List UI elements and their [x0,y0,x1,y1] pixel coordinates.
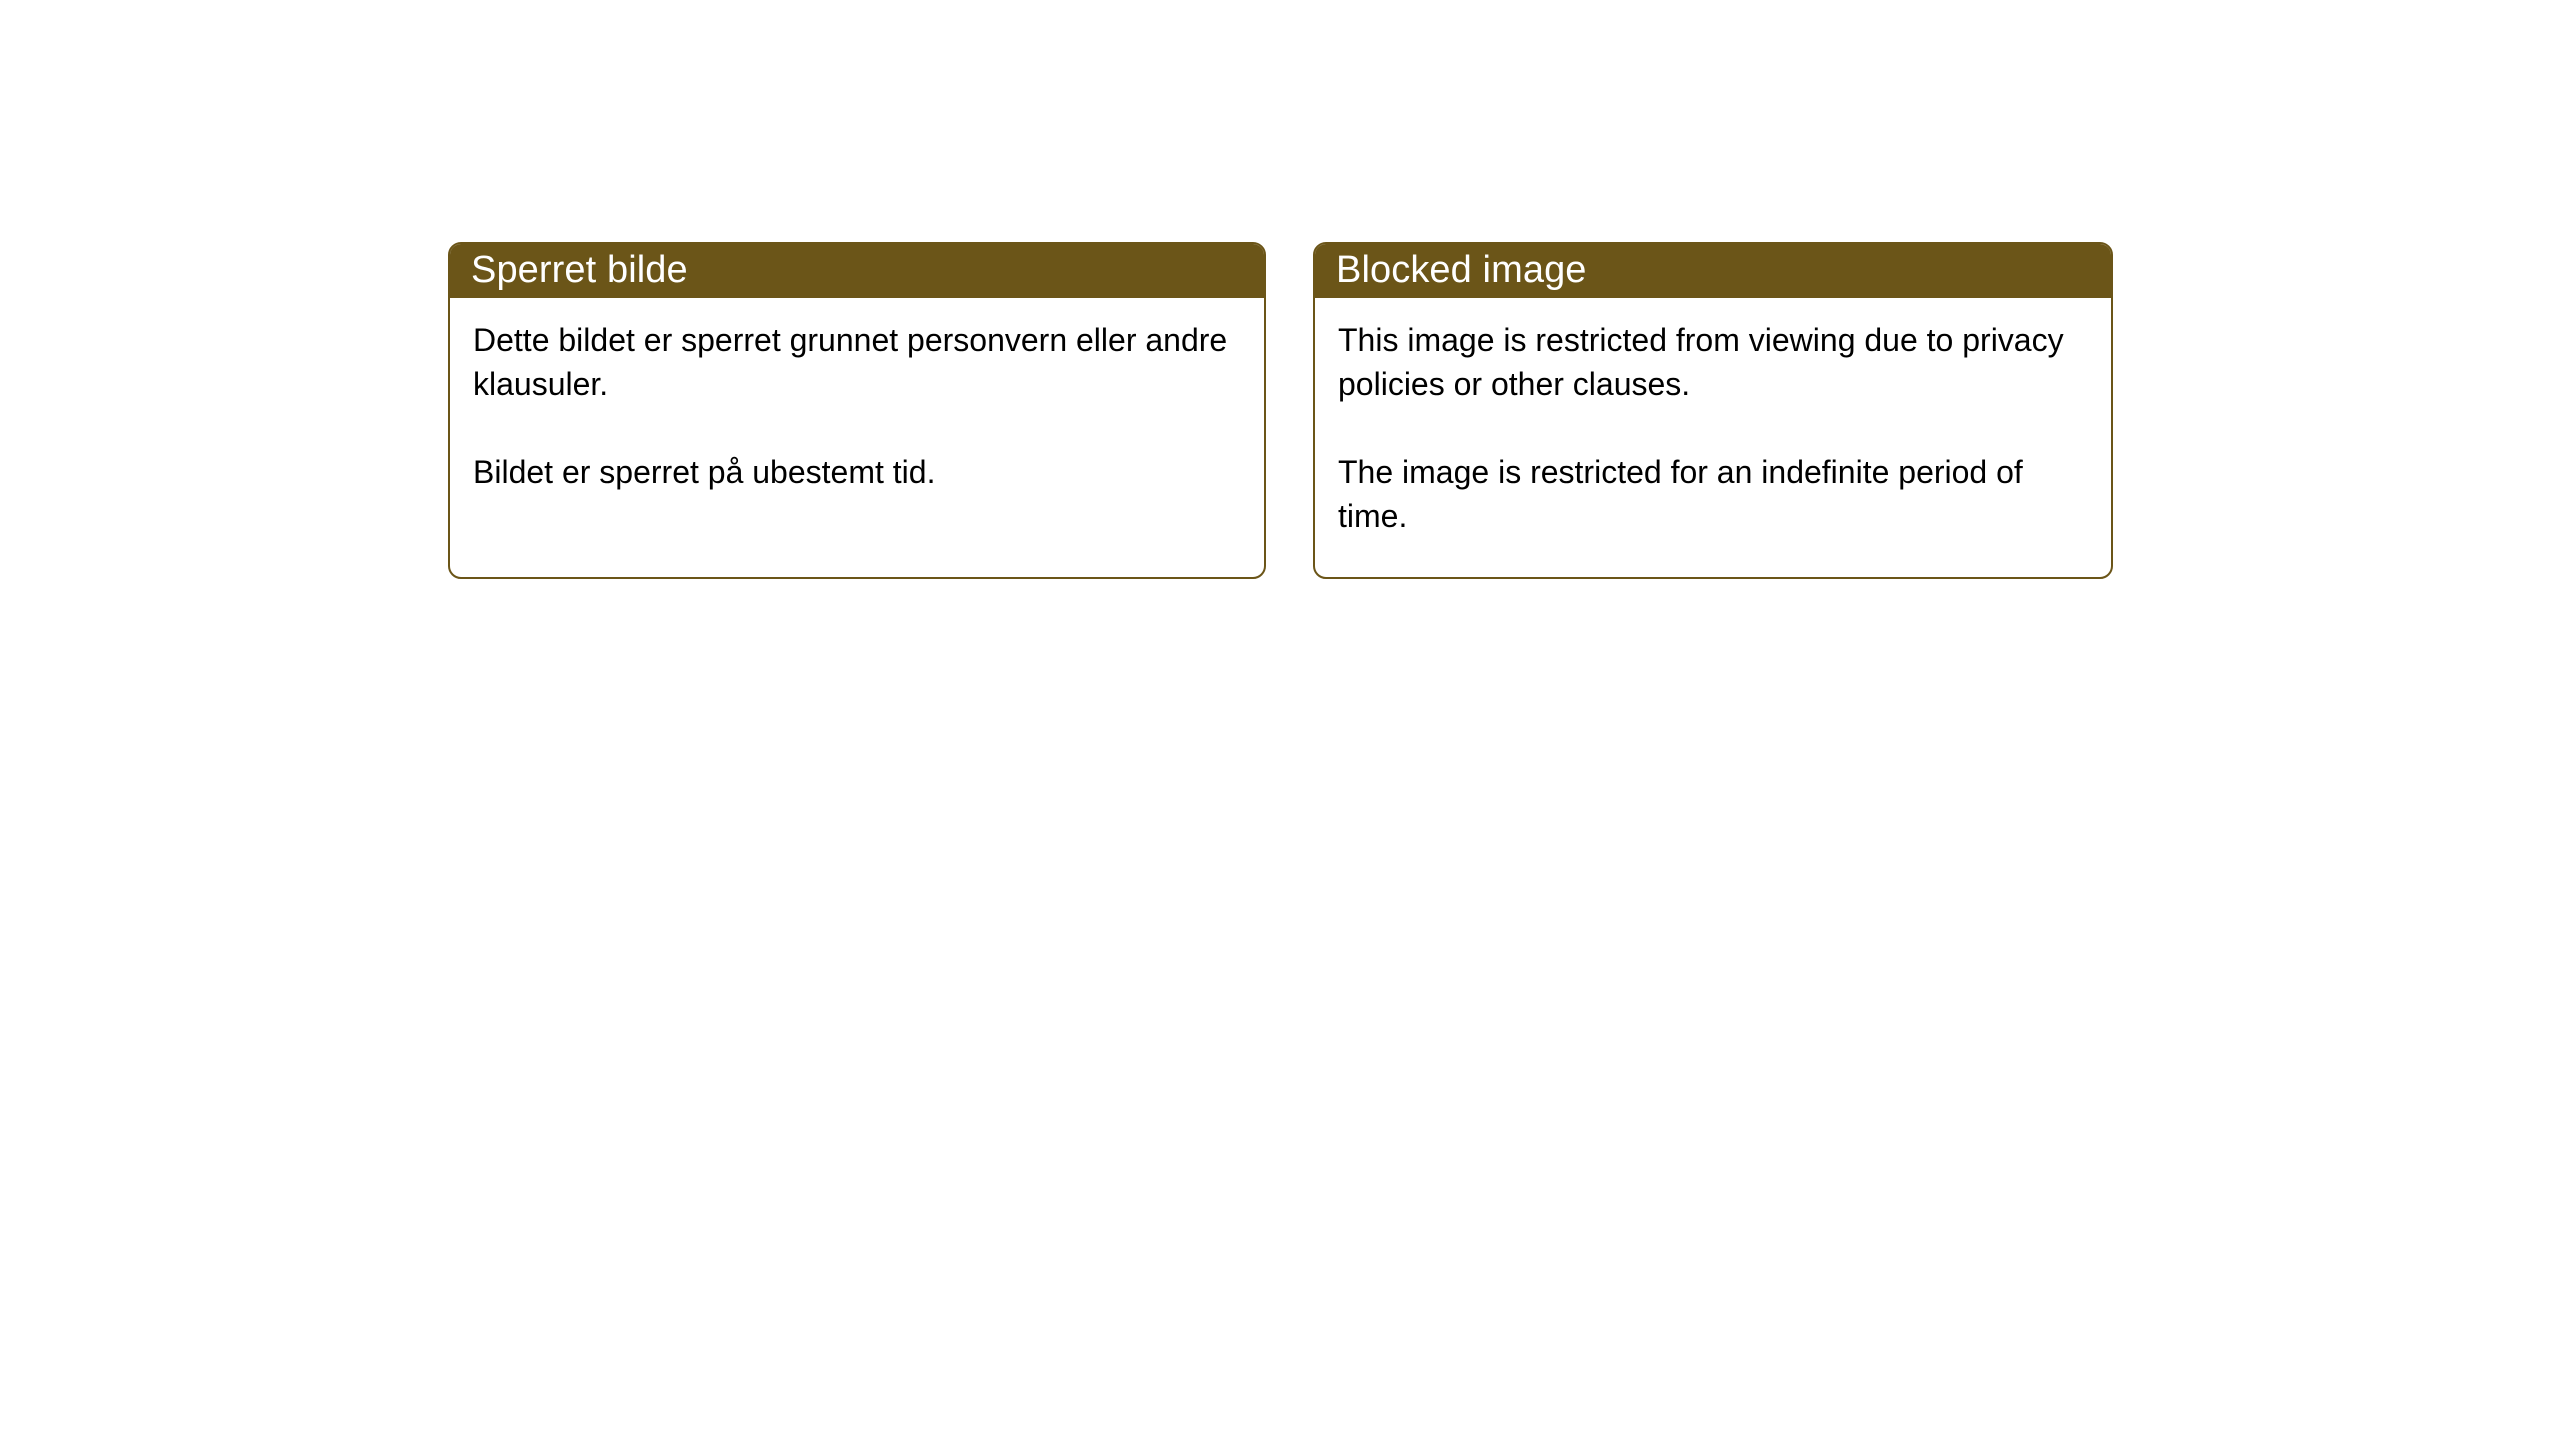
card-body-english: This image is restricted from viewing du… [1315,298,2111,538]
page-canvas: Sperret bilde Dette bildet er sperret gr… [0,0,2560,1440]
card-paragraph-duration-norwegian: Bildet er sperret på ubestemt tid. [473,450,1242,494]
card-paragraph-reason-norwegian: Dette bildet er sperret grunnet personve… [473,318,1242,406]
card-header-norwegian: Sperret bilde [448,242,1266,298]
card-body-norwegian: Dette bildet er sperret grunnet personve… [450,298,1264,494]
paragraph-spacer [1338,406,2089,450]
card-paragraph-reason-english: This image is restricted from viewing du… [1338,318,2089,406]
blocked-image-notice-card-norwegian: Sperret bilde Dette bildet er sperret gr… [448,242,1266,579]
card-header-english: Blocked image [1313,242,2113,298]
card-title-norwegian: Sperret bilde [471,250,688,290]
card-paragraph-duration-english: The image is restricted for an indefinit… [1338,450,2089,538]
card-title-english: Blocked image [1336,250,1587,290]
paragraph-spacer [473,406,1242,450]
blocked-image-notice-card-english: Blocked image This image is restricted f… [1313,242,2113,579]
